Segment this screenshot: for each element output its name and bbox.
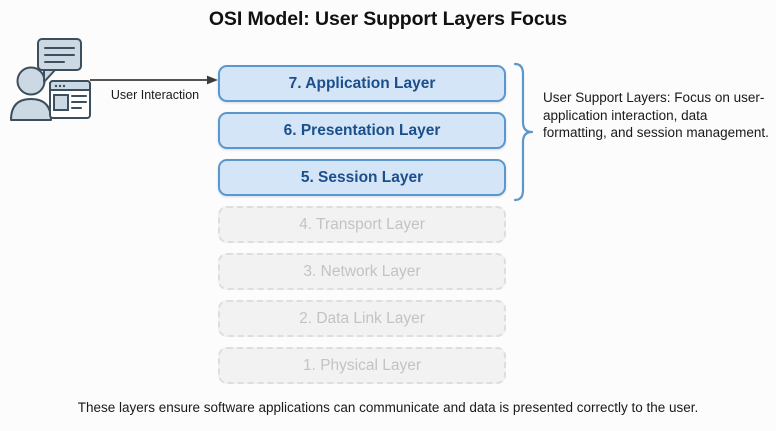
curly-brace-icon bbox=[512, 62, 536, 202]
layer-label: 7. Application Layer bbox=[289, 75, 436, 93]
user-interaction-label: User Interaction bbox=[93, 88, 217, 102]
layer-box-presentation[interactable]: 6. Presentation Layer bbox=[218, 112, 506, 149]
layer-label: 5. Session Layer bbox=[301, 169, 423, 187]
layer-box-network[interactable]: 3. Network Layer bbox=[218, 253, 506, 290]
layer-box-transport[interactable]: 4. Transport Layer bbox=[218, 206, 506, 243]
layer-box-application[interactable]: 7. Application Layer bbox=[218, 65, 506, 102]
layer-label: 2. Data Link Layer bbox=[299, 310, 425, 328]
user-interaction-arrow bbox=[90, 73, 218, 87]
user-support-layers-annotation: User Support Layers: Focus on user-appli… bbox=[543, 89, 773, 142]
layer-label: 1. Physical Layer bbox=[303, 357, 421, 375]
page-title: OSI Model: User Support Layers Focus bbox=[0, 8, 776, 31]
layer-box-data-link[interactable]: 2. Data Link Layer bbox=[218, 300, 506, 337]
user-support-layers-brace bbox=[512, 62, 536, 202]
user-actor-icon bbox=[8, 36, 94, 122]
osi-layer-stack: 7. Application Layer 6. Presentation Lay… bbox=[218, 65, 506, 394]
summary-caption: These layers ensure software application… bbox=[0, 400, 776, 415]
arrow-right-icon bbox=[90, 73, 218, 87]
layer-label: 3. Network Layer bbox=[303, 263, 420, 281]
user-with-chat-and-browser-icon bbox=[8, 36, 94, 122]
layer-label: 4. Transport Layer bbox=[299, 216, 425, 234]
layer-box-session[interactable]: 5. Session Layer bbox=[218, 159, 506, 196]
layer-box-physical[interactable]: 1. Physical Layer bbox=[218, 347, 506, 384]
layer-label: 6. Presentation Layer bbox=[284, 122, 441, 140]
